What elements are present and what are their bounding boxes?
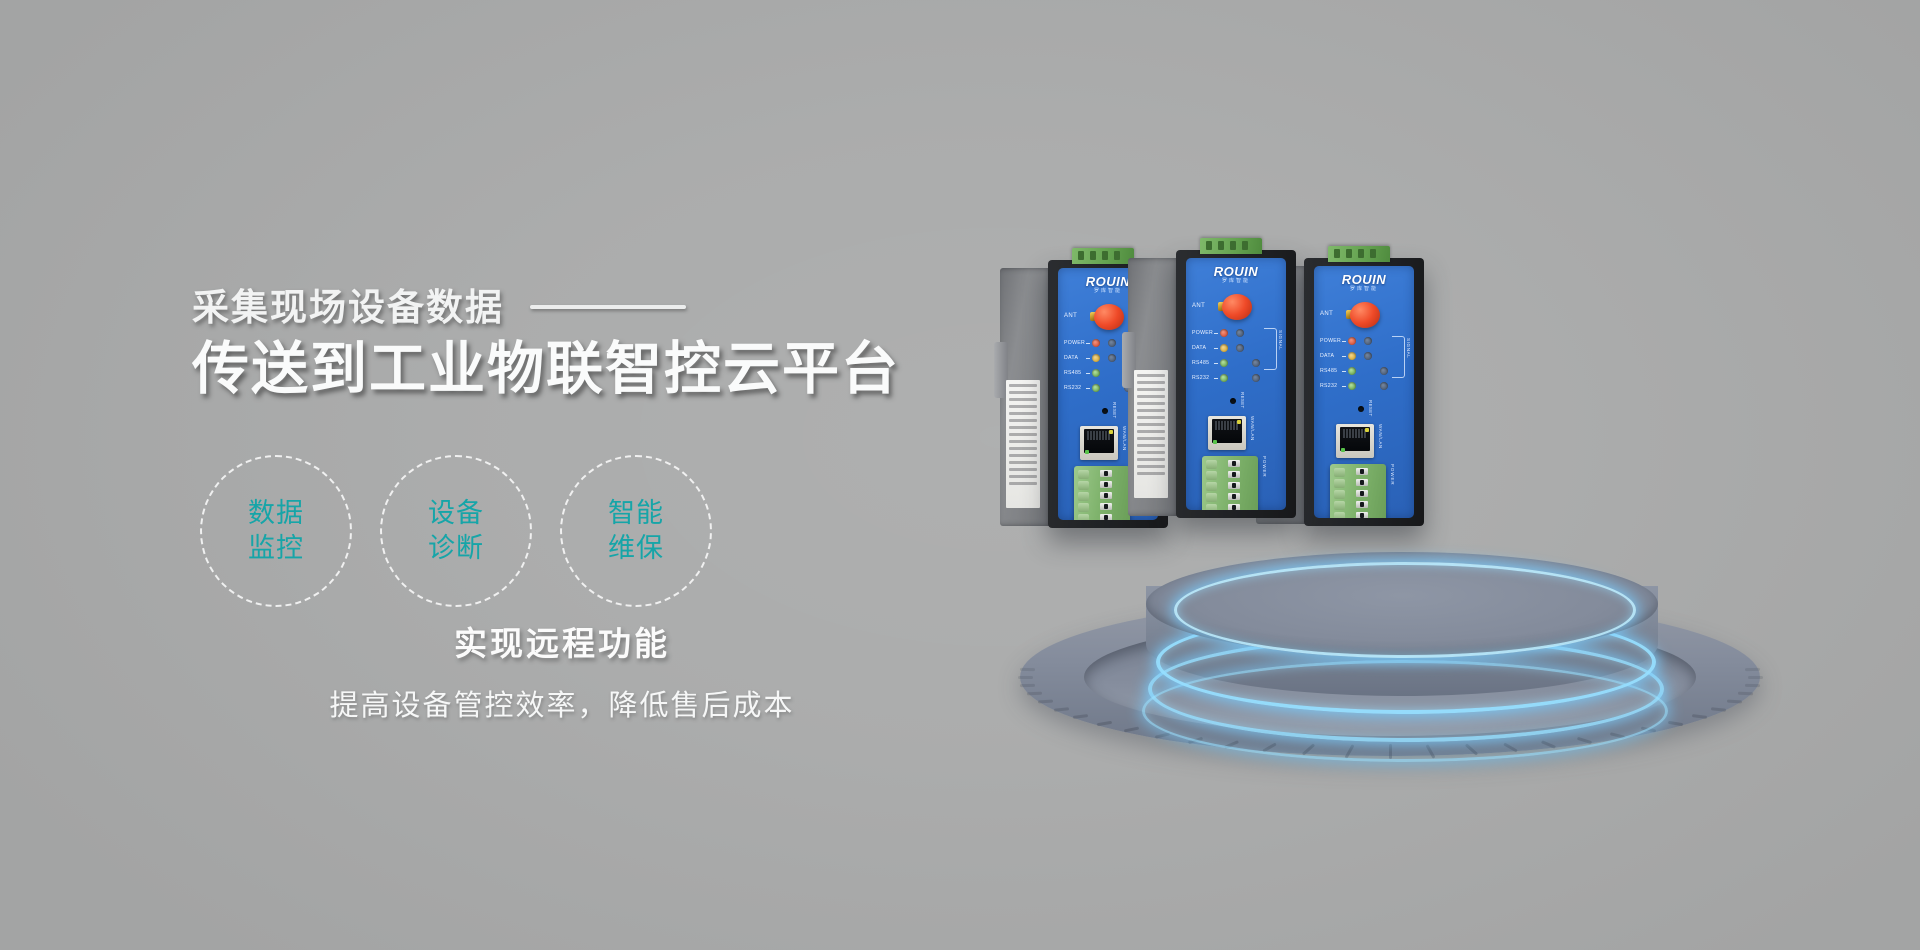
antenna-row: ANT	[1192, 292, 1280, 322]
led-label: RS232	[1320, 383, 1337, 389]
led-aux-1	[1108, 339, 1116, 347]
signal-label: SIGNAL	[1406, 338, 1411, 358]
antenna-label: ANT	[1064, 313, 1077, 319]
device-body: ROUIN 罗库智能 ANT POWER DATA	[1304, 258, 1424, 526]
gear-tooth	[1745, 668, 1760, 671]
glow-ring-1	[1174, 562, 1636, 658]
promo-banner: 采集现场设备数据 传送到工业物联智控云平台 数据 监控 设备 诊断 智能 维保 …	[0, 0, 1920, 950]
bubble-line-1: 数据	[248, 496, 304, 531]
led-aux-2	[1364, 352, 1372, 360]
tagline-sub: 提高设备管控效率，降低售后成本	[292, 682, 832, 724]
reset-button[interactable]	[1358, 406, 1364, 412]
gear-tooth	[1738, 692, 1753, 696]
gear-tooth	[1018, 676, 1033, 679]
rj45-led-amber	[1213, 440, 1217, 444]
eyebrow-row: 采集现场设备数据	[192, 284, 952, 330]
led-dash	[1214, 333, 1218, 334]
terminal-screw	[1334, 479, 1345, 488]
reset-label: RESET	[1112, 402, 1117, 419]
screw-terminal-block[interactable]	[1330, 464, 1386, 518]
device-spec-label	[1006, 380, 1040, 508]
brand-logo: ROUIN	[1314, 273, 1414, 286]
terminal-block-label: POWER	[1262, 456, 1267, 478]
bubble-line-1: 智能	[608, 496, 664, 531]
signal-label: SIGNAL	[1278, 330, 1283, 350]
led-dash	[1086, 373, 1090, 374]
antenna-label: ANT	[1192, 303, 1205, 309]
device-faceplate: ROUIN 罗库智能 ANT POWER DATA	[1314, 266, 1414, 518]
led-label: RS485	[1064, 370, 1081, 376]
rj45-led-green	[1365, 428, 1369, 432]
led-label: POWER	[1192, 330, 1213, 336]
terminal-screw	[1334, 501, 1345, 510]
led-aux-4	[1252, 374, 1260, 382]
led-label: RS232	[1192, 375, 1209, 381]
terminal-screw	[1206, 482, 1217, 491]
gear-tooth	[1711, 707, 1726, 711]
terminal-slot	[1100, 514, 1112, 520]
terminal-slot	[1356, 468, 1368, 475]
led-dash	[1342, 371, 1346, 372]
bubble-data-monitoring[interactable]: 数据 监控	[200, 455, 352, 607]
device-side-panel	[1000, 268, 1052, 526]
led-data-indicator	[1220, 344, 1228, 352]
device-side-panel	[1128, 258, 1180, 516]
tagline-main: 实现远程功能	[352, 617, 772, 665]
terminal-screw	[1206, 504, 1217, 510]
led-aux-1	[1364, 337, 1372, 345]
gear-tooth	[1054, 707, 1069, 711]
terminal-slot	[1228, 471, 1240, 478]
gear-tooth	[1668, 721, 1683, 726]
gear-tooth	[1691, 714, 1706, 719]
terminal-slot	[1228, 460, 1240, 467]
terminal-slot	[1228, 493, 1240, 500]
led-dash	[1086, 343, 1090, 344]
led-indicator-block: POWER DATA RS485	[1320, 334, 1408, 394]
lan-port-label: WAN/LAN	[1250, 416, 1255, 441]
led-label: POWER	[1064, 340, 1085, 346]
gear-tooth	[1124, 727, 1139, 733]
terminal-screw	[1078, 514, 1089, 520]
reset-button[interactable]	[1102, 408, 1108, 414]
terminal-slot	[1100, 470, 1112, 477]
terminal-slot	[1228, 504, 1240, 510]
reset-label: RESET	[1368, 400, 1373, 417]
eyebrow-text: 采集现场设备数据	[192, 289, 504, 326]
led-aux-3	[1252, 359, 1260, 367]
screw-terminal-block[interactable]	[1202, 456, 1258, 510]
rj45-led-amber	[1341, 448, 1345, 452]
device-faceplate: ROUIN 罗库智能 ANT POWER DATA	[1186, 258, 1286, 510]
terminal-slot	[1356, 512, 1368, 518]
terminal-screw	[1334, 512, 1345, 518]
led-aux-2	[1236, 344, 1244, 352]
rj45-pins	[1343, 429, 1367, 438]
led-aux-2	[1108, 354, 1116, 362]
led-dash	[1214, 348, 1218, 349]
iot-gateway-device-2[interactable]: ROUIN 罗库智能 ANT POWER DATA	[1176, 250, 1296, 518]
screw-terminal-block[interactable]	[1074, 466, 1130, 520]
led-row-rs232: RS232	[1320, 379, 1408, 394]
terminal-screw	[1206, 493, 1217, 502]
led-dash	[1342, 341, 1346, 342]
gear-tooth	[1745, 684, 1760, 687]
antenna-cap-icon[interactable]	[1094, 304, 1124, 330]
terminal-screw	[1206, 471, 1217, 480]
gear-tooth	[1748, 676, 1763, 679]
rj45-led-amber	[1085, 450, 1089, 454]
led-dash	[1342, 386, 1346, 387]
antenna-label: ANT	[1320, 311, 1333, 317]
eyebrow-rule	[530, 305, 686, 309]
rj45-pins	[1087, 431, 1111, 440]
led-dash	[1086, 358, 1090, 359]
device-body: ROUIN 罗库智能 ANT POWER DATA	[1176, 250, 1296, 518]
product-scene: ROUIN 罗库智能 ANT POWER DATA	[1000, 250, 1760, 790]
led-dash	[1342, 356, 1346, 357]
signal-bracket-icon	[1392, 336, 1405, 378]
copy-block: 采集现场设备数据 传送到工业物联智控云平台	[192, 284, 952, 402]
lan-port-label: WAN/LAN	[1122, 426, 1127, 451]
led-rs485-indicator	[1348, 367, 1356, 375]
led-power-indicator	[1348, 337, 1356, 345]
led-rs232-indicator	[1348, 382, 1356, 390]
terminal-screw	[1078, 492, 1089, 501]
gear-tooth	[1020, 684, 1035, 687]
terminal-slot	[1100, 503, 1112, 510]
gear-tooth	[1097, 721, 1112, 726]
terminal-slot	[1356, 501, 1368, 508]
feature-bubbles: 数据 监控 设备 诊断 智能 维保	[200, 455, 712, 607]
bubble-smart-maintenance[interactable]: 智能 维保	[560, 455, 712, 607]
gear-tooth	[1038, 700, 1053, 704]
led-row-rs232: RS232	[1192, 371, 1280, 386]
terminal-slot	[1356, 490, 1368, 497]
rj45-ethernet-port[interactable]	[1336, 424, 1374, 458]
rj45-led-green	[1109, 430, 1113, 434]
top-terminal-connector	[1328, 246, 1390, 262]
gear-tooth	[1020, 668, 1035, 671]
top-terminal-connector	[1200, 238, 1262, 254]
led-label: DATA	[1192, 345, 1206, 351]
rj45-led-green	[1237, 420, 1241, 424]
led-label: DATA	[1320, 353, 1334, 359]
terminal-slot	[1100, 492, 1112, 499]
led-aux-1	[1236, 329, 1244, 337]
reset-button[interactable]	[1230, 398, 1236, 404]
led-dash	[1214, 363, 1218, 364]
gear-tooth	[1027, 692, 1042, 696]
terminal-slot	[1228, 482, 1240, 489]
led-label: RS485	[1320, 368, 1337, 374]
led-rs485-indicator	[1092, 369, 1100, 377]
reset-label: RESET	[1240, 392, 1245, 409]
bubble-device-diagnosis[interactable]: 设备 诊断	[380, 455, 532, 607]
led-rs232-indicator	[1220, 374, 1228, 382]
antenna-row: ANT	[1320, 300, 1408, 330]
antenna-cap-icon[interactable]	[1222, 294, 1252, 320]
led-data-indicator	[1348, 352, 1356, 360]
top-terminal-connector	[1072, 248, 1134, 264]
rj45-ethernet-port[interactable]	[1208, 416, 1246, 450]
terminal-slot	[1100, 481, 1112, 488]
led-aux-4	[1380, 382, 1388, 390]
rj45-ethernet-port[interactable]	[1080, 426, 1118, 460]
terminal-screw	[1078, 470, 1089, 479]
led-indicator-block: POWER DATA RS485	[1192, 326, 1280, 386]
led-aux-3	[1380, 367, 1388, 375]
led-power-indicator	[1092, 339, 1100, 347]
device-spec-label	[1134, 370, 1168, 498]
iot-gateway-device-3[interactable]: ROUIN 罗库智能 ANT POWER DATA	[1304, 258, 1424, 526]
gear-tooth	[1727, 700, 1742, 704]
led-rs485-indicator	[1220, 359, 1228, 367]
terminal-screw	[1206, 460, 1217, 469]
terminal-slot	[1356, 479, 1368, 486]
led-dash	[1214, 378, 1218, 379]
terminal-screw	[1078, 481, 1089, 490]
gear-tooth	[1073, 714, 1088, 719]
terminal-block-label: POWER	[1390, 464, 1395, 486]
terminal-screw	[1334, 468, 1345, 477]
terminal-screw	[1334, 490, 1345, 499]
rj45-pins	[1215, 421, 1239, 430]
signal-bracket-icon	[1264, 328, 1277, 370]
lan-port-label: WAN/LAN	[1378, 424, 1383, 449]
bubble-line-2: 维保	[608, 531, 664, 566]
bubble-line-2: 诊断	[428, 531, 484, 566]
led-label: DATA	[1064, 355, 1078, 361]
brand-subtitle: 罗库智能	[1186, 279, 1286, 284]
brand-logo: ROUIN	[1186, 265, 1286, 278]
led-power-indicator	[1220, 329, 1228, 337]
led-rs232-indicator	[1092, 384, 1100, 392]
brand-subtitle: 罗库智能	[1314, 287, 1414, 292]
led-label: RS485	[1192, 360, 1209, 366]
led-label: POWER	[1320, 338, 1341, 344]
bubble-line-2: 监控	[248, 531, 304, 566]
headline-text: 传送到工业物联智控云平台	[192, 338, 952, 402]
led-data-indicator	[1092, 354, 1100, 362]
bubble-line-1: 设备	[428, 496, 484, 531]
led-dash	[1086, 388, 1090, 389]
led-label: RS232	[1064, 385, 1081, 391]
antenna-cap-icon[interactable]	[1350, 302, 1380, 328]
glow-platform	[1146, 552, 1658, 748]
terminal-screw	[1078, 503, 1089, 512]
